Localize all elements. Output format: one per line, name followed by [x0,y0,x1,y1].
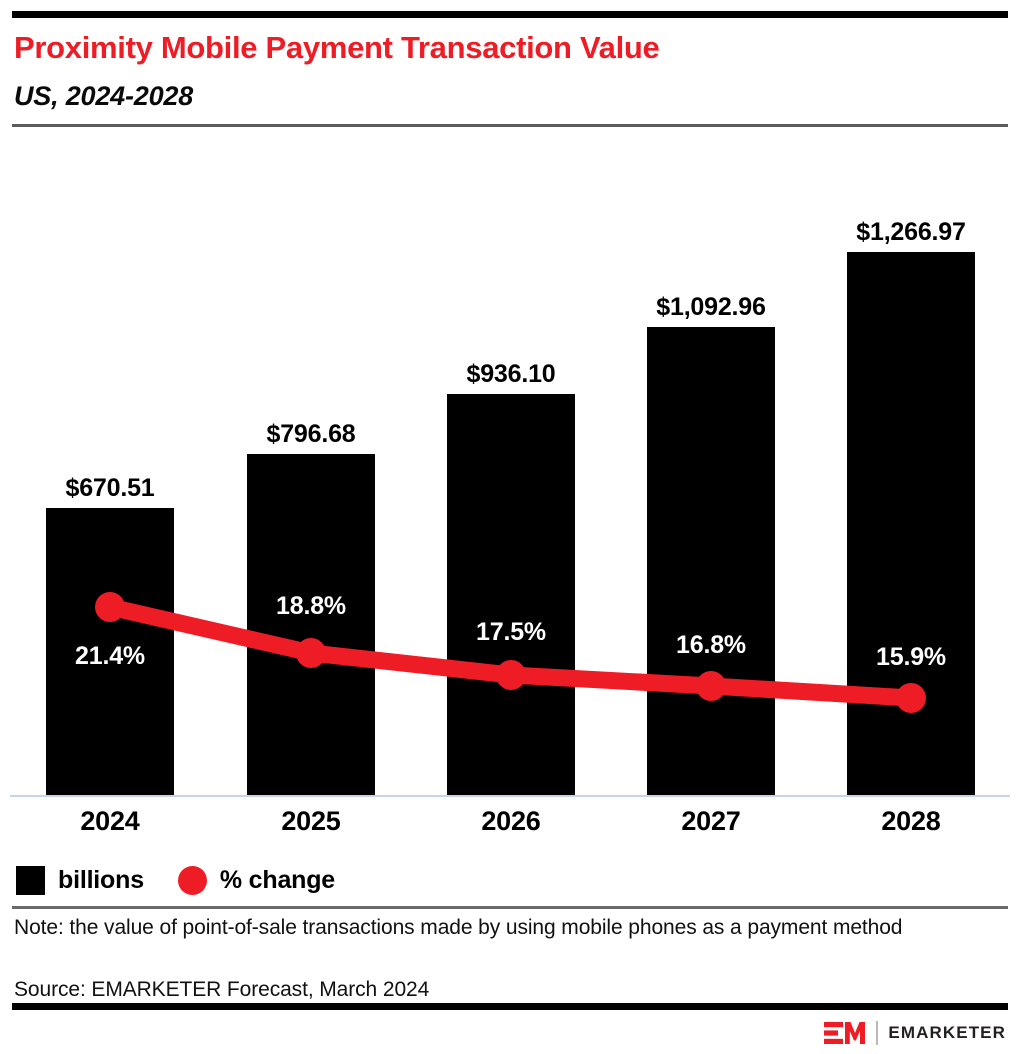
chart-subtitle: US, 2024-2028 [14,80,994,112]
chart-note: Note: the value of point-of-sale transac… [14,913,974,943]
logo-divider [876,1021,878,1045]
header-bottom-rule [12,124,1008,127]
pct-label-2028: 15.9% [847,643,975,672]
marker-2024 [95,592,125,622]
chart-source: Source: EMARKETER Forecast, March 2024 [14,975,974,1005]
x-axis-line [10,795,1010,797]
marker-2028 [896,683,926,713]
legend-circle-icon [178,866,207,895]
legend-label-percent-change: % change [220,866,335,895]
marker-2025 [296,638,326,668]
x-label-2027: 2027 [647,806,775,837]
marker-2026 [496,660,526,690]
legend-label-billions: billions [58,866,144,895]
marker-2027 [696,671,726,701]
percent-change-line [0,150,1020,800]
chart-page: Proximity Mobile Payment Transaction Val… [0,0,1020,1054]
x-label-2026: 2026 [447,806,575,837]
legend-square-icon [16,866,45,895]
pct-label-2025: 18.8% [247,592,375,621]
x-label-2028: 2028 [847,806,975,837]
legend-item-percent-change: % change [178,866,335,895]
legend-bottom-rule [12,906,1008,909]
pct-label-2024: 21.4% [46,642,174,671]
x-label-2025: 2025 [247,806,375,837]
emarketer-logo: EMARKETER [824,1020,1006,1046]
legend-item-billions: billions [16,866,144,895]
x-label-2024: 2024 [46,806,174,837]
pct-label-2027: 16.8% [647,631,775,660]
em-logo-icon [824,1021,866,1045]
header-top-rule [12,11,1008,18]
x-axis-labels: 2024 2025 2026 2027 2028 [0,806,1020,846]
logo-wordmark: EMARKETER [888,1023,1006,1043]
footer-rule [12,1003,1008,1010]
pct-label-2026: 17.5% [447,618,575,647]
plot-area: $670.51 $796.68 $936.10 $1,092.96 $1,266… [0,150,1020,800]
chart-title: Proximity Mobile Payment Transaction Val… [14,30,994,66]
chart-legend: billions % change [16,862,369,898]
